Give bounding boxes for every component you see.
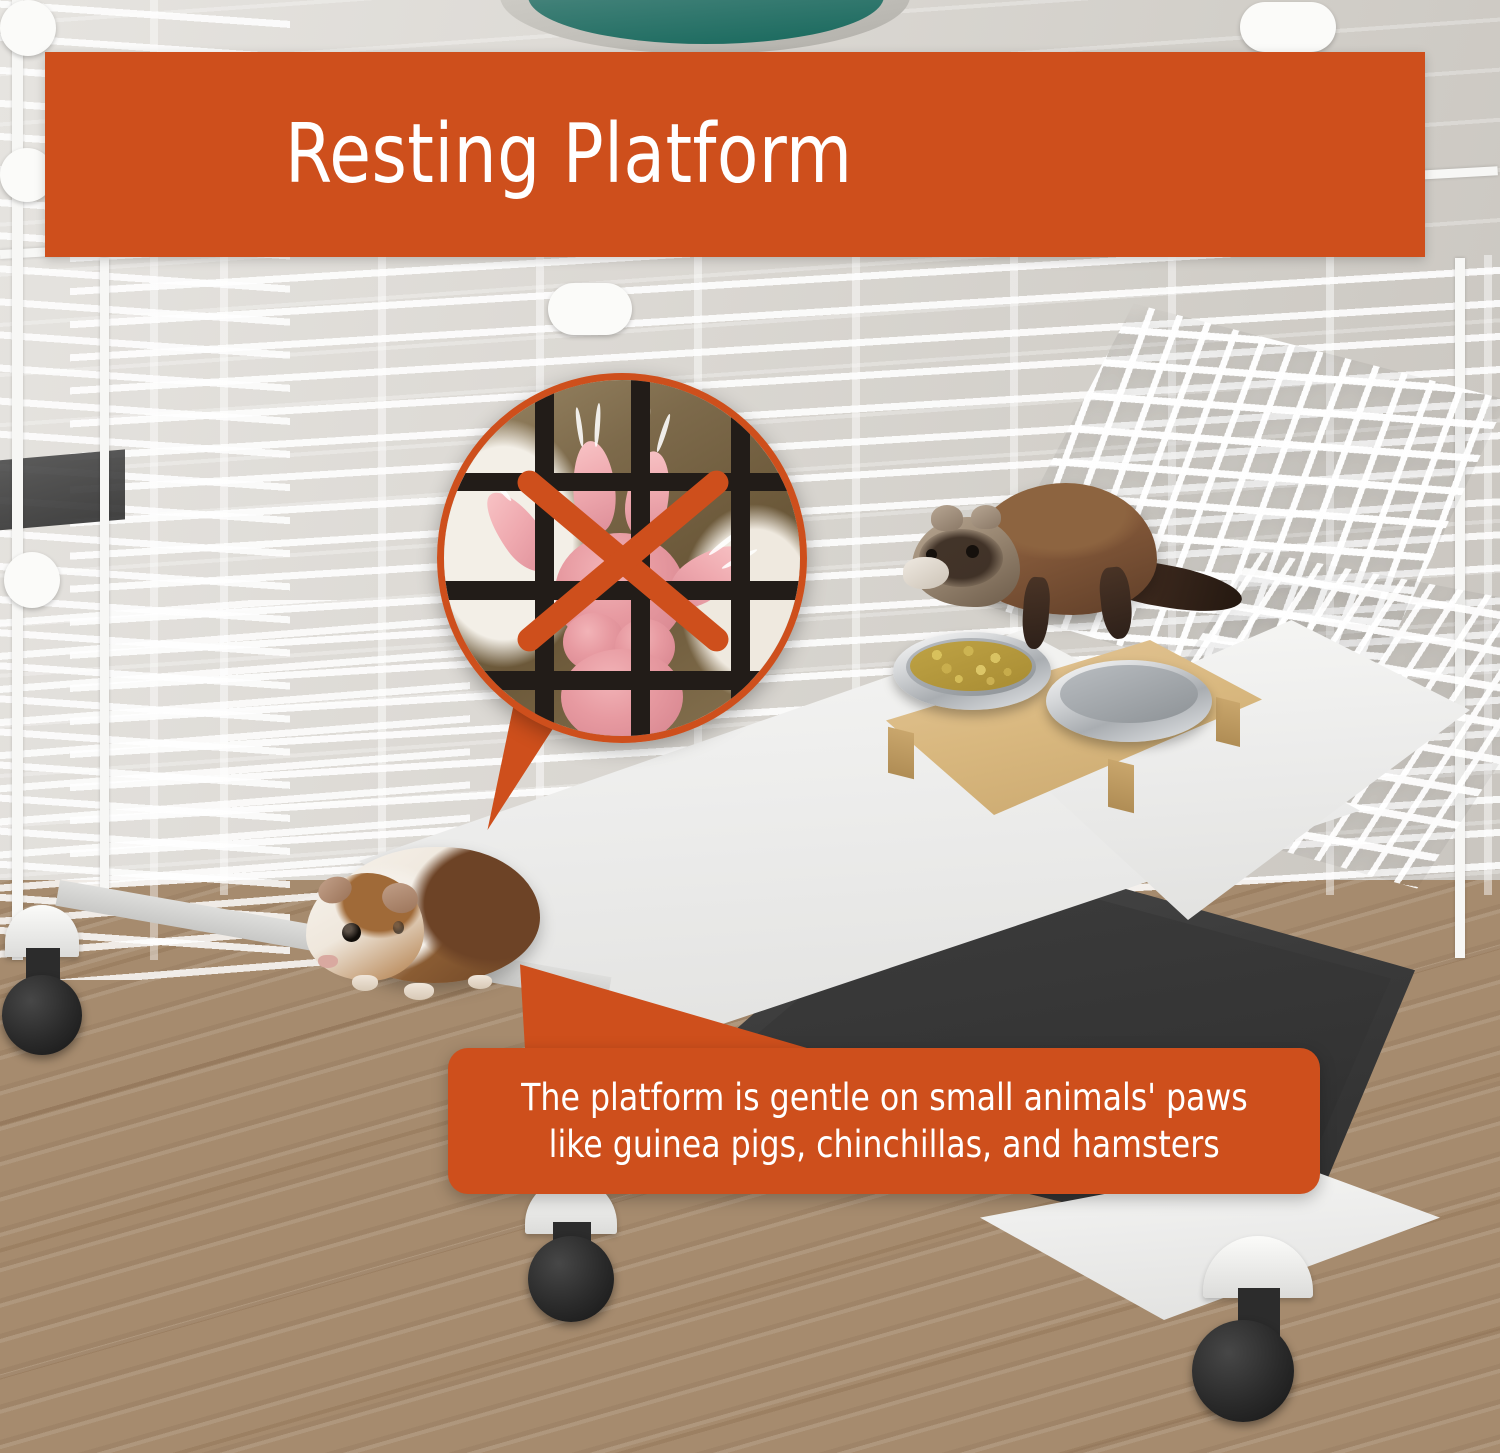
- guinea-pig-eye: [393, 921, 404, 934]
- guinea-pig-nose: [318, 955, 338, 968]
- feeder-stand-leg: [1108, 759, 1134, 813]
- wire-grid-bar-horizontal: [437, 581, 807, 600]
- caption-callout: The platform is gentle on small animals'…: [448, 1048, 1320, 1194]
- cage-connector-cap: [548, 283, 632, 335]
- cage-connector-cap: [0, 0, 56, 56]
- paw-palm: [561, 649, 683, 743]
- caster-wheel: [2, 975, 82, 1055]
- feeder-stand-leg: [1216, 697, 1240, 747]
- guinea-pig-foot: [404, 983, 434, 1000]
- ferret-ear: [931, 505, 963, 531]
- callout-circle: [437, 373, 807, 743]
- paw-claw: [593, 403, 601, 447]
- page-title: Resting Platform: [285, 107, 852, 202]
- feeder-stand-leg: [888, 727, 914, 779]
- caption-line-2: like guinea pigs, chinchillas, and hamst…: [548, 1121, 1219, 1168]
- paw-photo: [437, 373, 807, 743]
- guinea-pig-foot: [468, 975, 492, 989]
- cage-corner-post-mid: [100, 258, 109, 898]
- guinea-pig: [300, 835, 560, 1010]
- guinea-pig-foot: [352, 975, 378, 991]
- wire-grid-bar-horizontal: [437, 473, 807, 491]
- caption-line-1: The platform is gentle on small animals'…: [521, 1074, 1248, 1121]
- cage-corner-post-left: [12, 0, 23, 960]
- ferret: [905, 465, 1235, 665]
- guinea-pig-eye: [342, 923, 361, 942]
- paw-claw: [655, 413, 672, 453]
- paw-claw: [574, 407, 585, 447]
- product-marketing-image: Resting Platform The platform is gentle …: [0, 0, 1500, 1453]
- wire-grid-bar-vertical: [731, 373, 750, 743]
- caster-wheel: [1192, 1320, 1294, 1422]
- ferret-eye: [966, 545, 979, 558]
- ferret-ear: [971, 505, 1001, 529]
- cage-connector-cap: [1240, 2, 1336, 52]
- wire-grid-bar-horizontal: [437, 671, 807, 690]
- caster-wheel: [528, 1236, 614, 1322]
- water-bowl-inner: [1060, 665, 1198, 723]
- cage-connector-cap: [4, 552, 60, 608]
- wire-grid-bar-vertical: [535, 373, 554, 743]
- title-banner: Resting Platform: [45, 52, 1425, 257]
